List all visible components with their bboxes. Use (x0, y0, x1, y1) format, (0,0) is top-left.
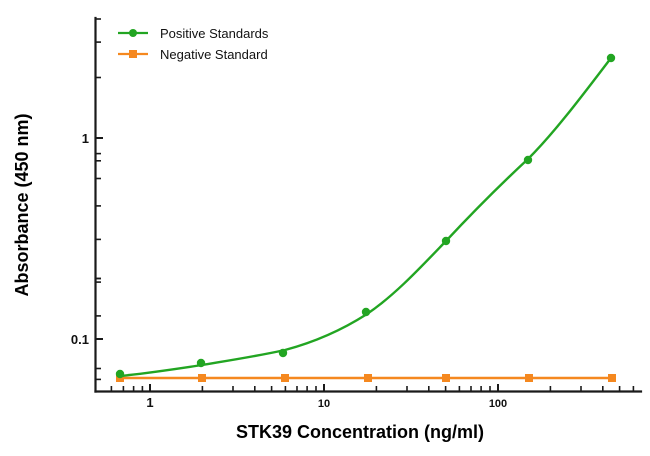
chart-legend: Positive Standards Negative Standard (118, 26, 269, 62)
legend-marker-positive (129, 29, 137, 37)
y-tick-label-1: 1 (82, 131, 89, 146)
positive-standards-marker (607, 54, 615, 62)
axes-group (96, 18, 642, 392)
negative-standard-marker (198, 374, 206, 382)
x-tick-label-10: 10 (318, 398, 330, 410)
y-axis-ticks (96, 19, 104, 379)
negative-standard-marker (364, 374, 372, 382)
x-tick-label-100: 100 (489, 398, 507, 410)
x-axis-ticks (111, 384, 633, 392)
y-tick-label-0.1: 0.1 (71, 332, 89, 347)
y-axis-title: Absorbance (450 nm) (12, 113, 32, 296)
legend-label-positive-standards: Positive Standards (160, 26, 269, 41)
legend-entry-negative-standard[interactable]: Negative Standard (118, 47, 268, 62)
elisa-standard-curve-chart: 1 0.1 Absorbance (450 nm) (0, 0, 650, 456)
positive-standards-fit-curve (120, 58, 611, 376)
x-tick-label-1: 1 (146, 395, 153, 410)
negative-standard-marker (525, 374, 533, 382)
legend-marker-negative (129, 50, 137, 58)
positive-standards-marker (116, 370, 124, 378)
positive-standards-marker (362, 308, 370, 316)
negative-standard-marker (281, 374, 289, 382)
negative-standard-marker (442, 374, 450, 382)
positive-standards-marker (524, 156, 532, 164)
legend-entry-positive-standards[interactable]: Positive Standards (118, 26, 269, 41)
legend-label-negative-standard: Negative Standard (160, 47, 268, 62)
positive-standards-marker (197, 359, 205, 367)
positive-standards-marker (442, 237, 450, 245)
x-axis-title: STK39 Concentration (ng/ml) (236, 422, 484, 442)
negative-standard-marker (608, 374, 616, 382)
series-positive-standards (116, 54, 615, 378)
chart-canvas: 1 0.1 Absorbance (450 nm) (0, 0, 650, 456)
positive-standards-marker (279, 349, 287, 357)
series-negative-standard (116, 374, 616, 382)
